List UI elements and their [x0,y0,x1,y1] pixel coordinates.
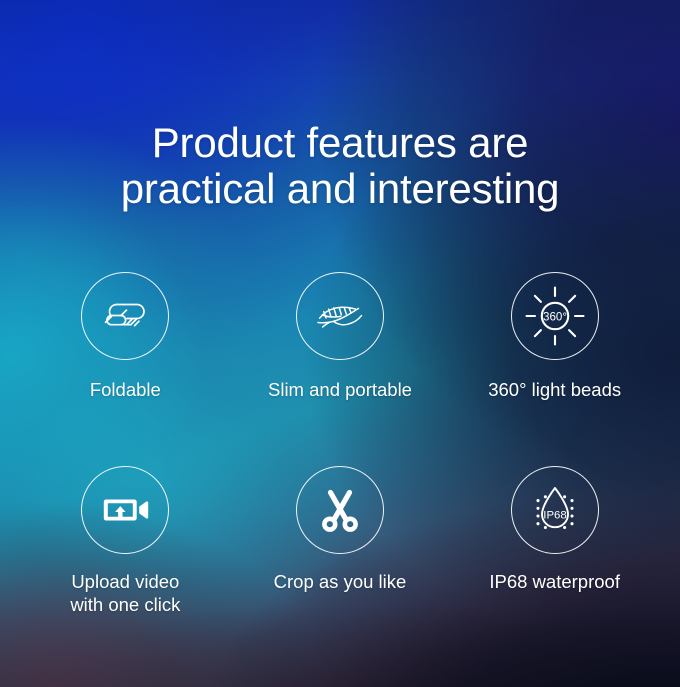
page-title: Product features are practical and inter… [0,120,680,212]
feather-icon [296,272,384,360]
feature-item-light-beads: 360° 360° light beads [447,272,662,420]
water-drop-ip68-icon-text: IP68 [543,509,566,521]
feature-item-crop: Crop as you like [233,466,448,616]
feature-label-slim-portable: Slim and portable [268,378,412,401]
water-drop-ip68-icon: IP68 [511,466,599,554]
feature-item-slim-portable: Slim and portable [233,272,448,420]
feature-label-waterproof: IP68 waterproof [489,570,620,593]
feature-label-foldable: Foldable [90,378,161,401]
product-feature-banner: Product features are practical and inter… [0,0,680,687]
sun-360-icon: 360° [511,272,599,360]
page-title-line-1: Product features are [0,120,680,166]
feature-item-upload-video: Upload video with one click [18,466,233,616]
feature-label-upload-video: Upload video with one click [70,570,180,616]
page-title-line-2: practical and interesting [0,166,680,212]
folded-blanket-icon [81,272,169,360]
feature-label-crop: Crop as you like [274,570,407,593]
video-upload-icon [81,466,169,554]
feature-item-foldable: Foldable [18,272,233,420]
sun-360-icon-text: 360° [543,310,567,323]
feature-label-light-beads: 360° light beads [488,378,621,401]
feature-grid: Foldable Slim and portabl [18,272,662,616]
feature-item-waterproof: IP68 IP68 waterproof [447,466,662,616]
scissors-icon [296,466,384,554]
